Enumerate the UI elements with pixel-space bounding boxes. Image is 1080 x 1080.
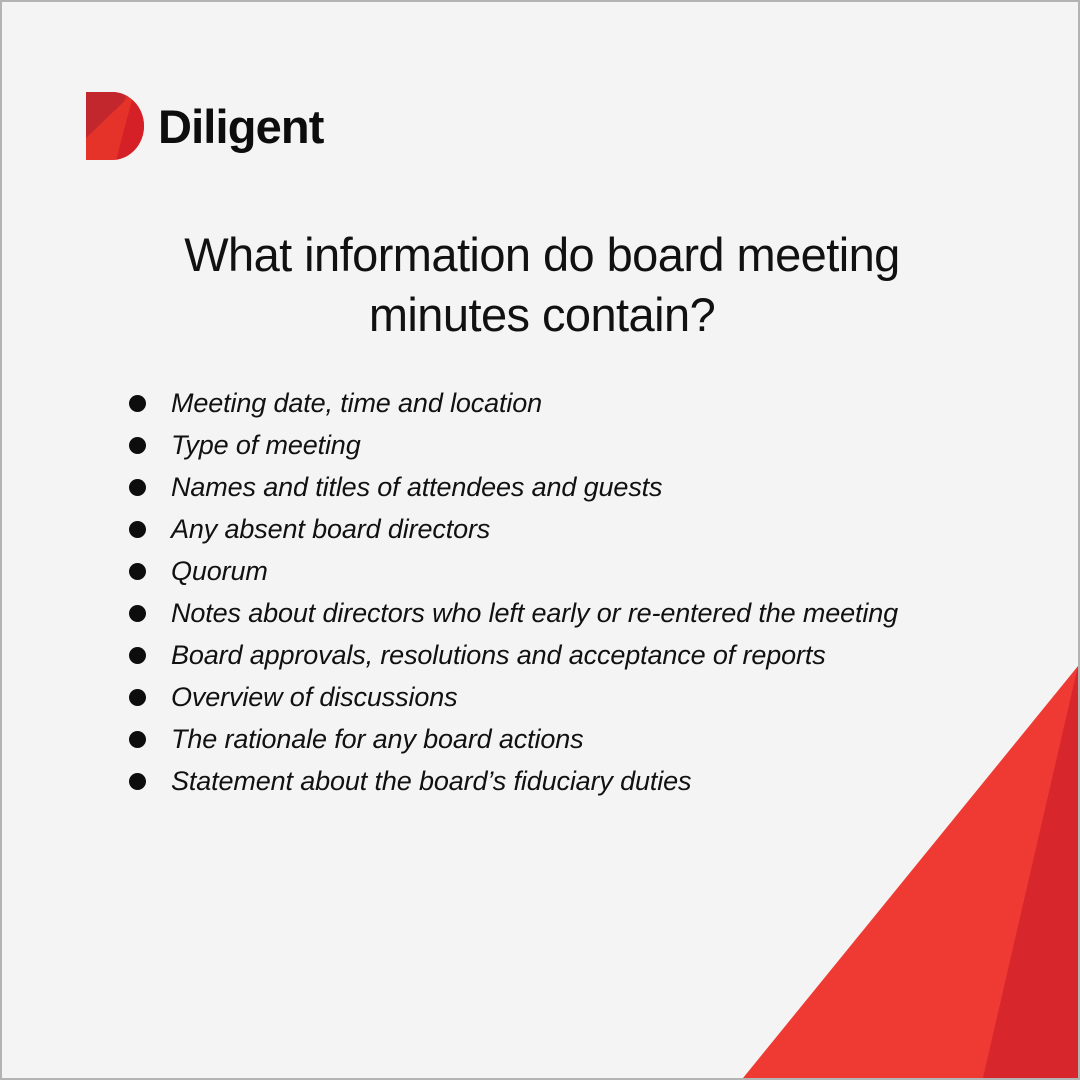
list-item-label: Names and titles of attendees and guests <box>171 472 662 502</box>
list-item: Type of meeting <box>129 430 1029 472</box>
list-item-label: Board approvals, resolutions and accepta… <box>171 640 826 670</box>
diligent-d-logo-icon <box>86 92 144 160</box>
list-item-label: The rationale for any board actions <box>171 724 584 754</box>
list-item: Names and titles of attendees and guests <box>129 472 1029 514</box>
bullet-dot-icon <box>129 773 146 790</box>
list-item-label: Statement about the board’s fiduciary du… <box>171 766 691 796</box>
list-item-label: Meeting date, time and location <box>171 388 542 418</box>
list-item: Meeting date, time and location <box>129 388 1029 430</box>
bullet-dot-icon <box>129 647 146 664</box>
bullet-dot-icon <box>129 689 146 706</box>
bullet-dot-icon <box>129 479 146 496</box>
list-item-label: Notes about directors who left early or … <box>171 598 898 628</box>
bullet-dot-icon <box>129 731 146 748</box>
slide-canvas: Diligent What information do board meeti… <box>0 0 1080 1080</box>
list-item-label: Any absent board directors <box>171 514 490 544</box>
bullet-dot-icon <box>129 521 146 538</box>
list-item: Quorum <box>129 556 1029 598</box>
page-title: What information do board meeting minute… <box>122 225 962 344</box>
bullet-dot-icon <box>129 605 146 622</box>
list-item: Any absent board directors <box>129 514 1029 556</box>
bullet-dot-icon <box>129 437 146 454</box>
list-item: Overview of discussions <box>129 682 1029 724</box>
brand-wordmark: Diligent <box>158 103 324 150</box>
list-item-label: Type of meeting <box>171 430 361 460</box>
list-item: Board approvals, resolutions and accepta… <box>129 640 1029 682</box>
bullet-dot-icon <box>129 563 146 580</box>
list-item-label: Quorum <box>171 556 268 586</box>
list-item-label: Overview of discussions <box>171 682 458 712</box>
bullet-dot-icon <box>129 395 146 412</box>
list-item: The rationale for any board actions <box>129 724 1029 766</box>
brand-logo-lockup[interactable]: Diligent <box>86 92 324 160</box>
content-bullet-list: Meeting date, time and location Type of … <box>129 388 1029 808</box>
list-item: Statement about the board’s fiduciary du… <box>129 766 1029 808</box>
list-item: Notes about directors who left early or … <box>129 598 1029 640</box>
